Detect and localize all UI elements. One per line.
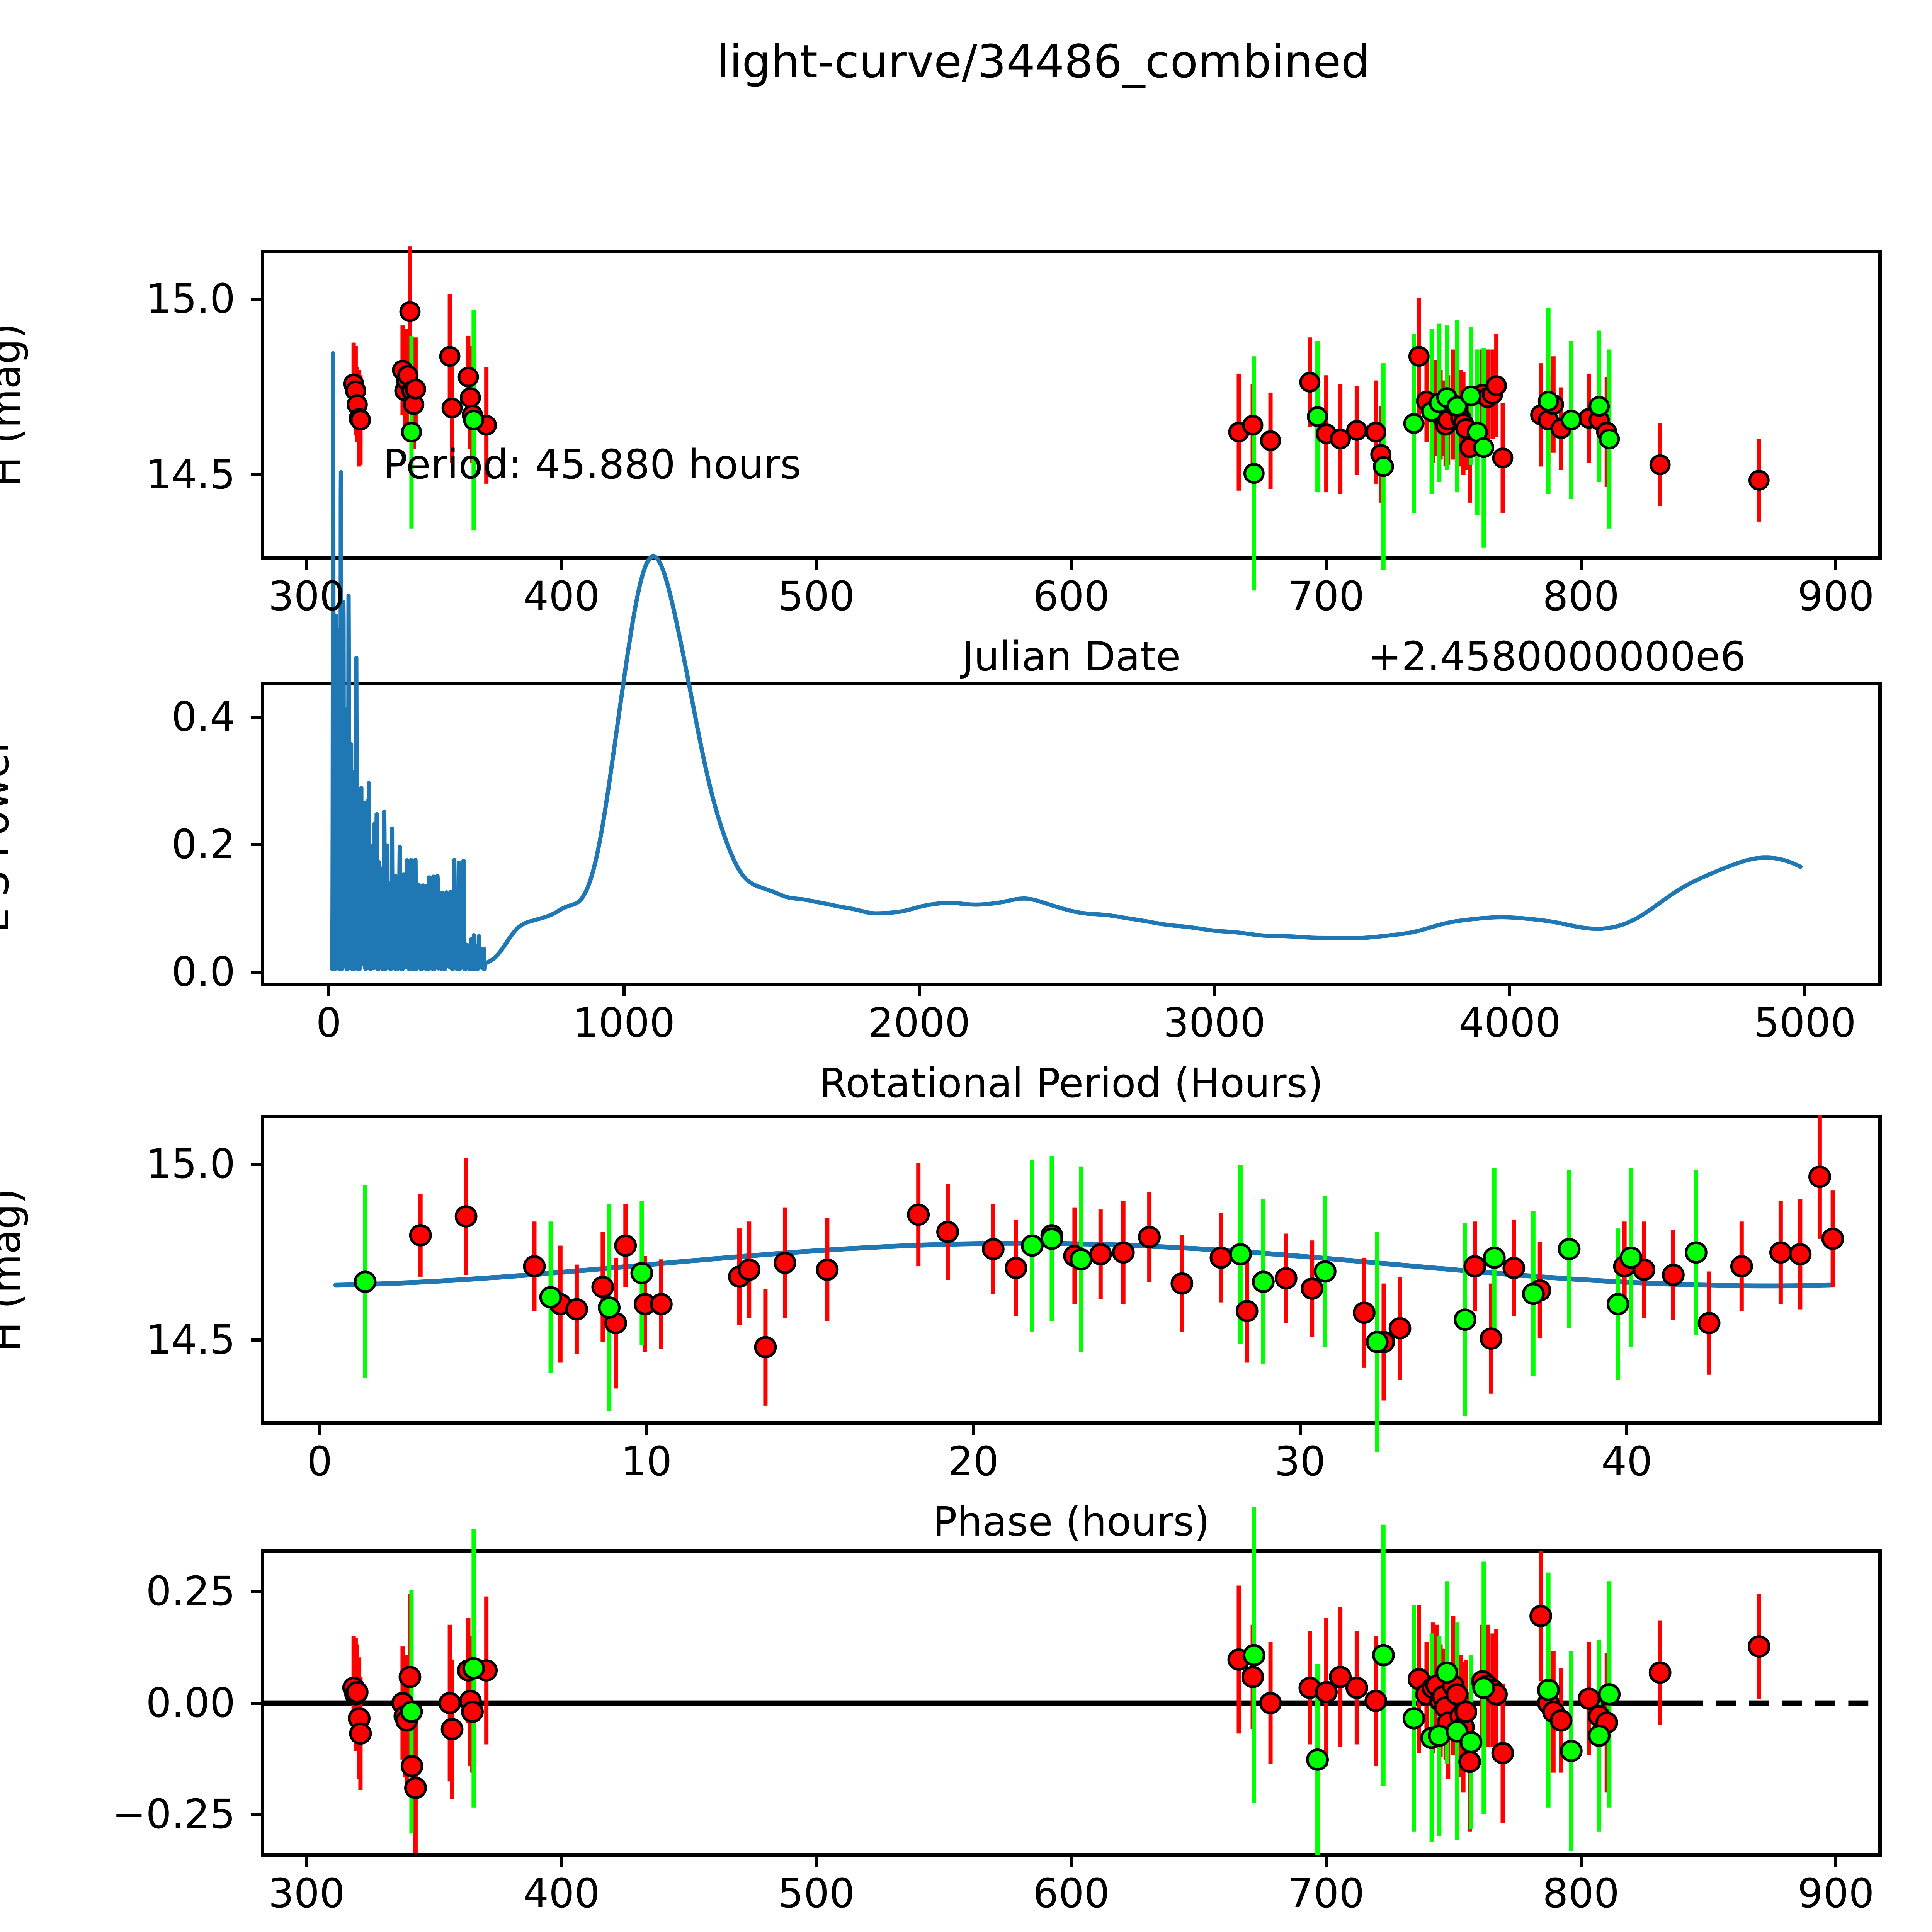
panel-residuals: [261, 1549, 1882, 1857]
figure-title: light-curve/34486_combined: [0, 35, 1932, 88]
y-tick-mark: [251, 716, 261, 719]
residuals-plot-area: [264, 1553, 1878, 1853]
x-tick-mark: [972, 1425, 975, 1435]
x-tick-label-300: 300: [237, 1870, 376, 1917]
x-tick-mark: [815, 560, 818, 570]
y-tick-mark: [251, 298, 261, 301]
x-tick-mark: [1325, 1857, 1328, 1867]
y-tick-label-14.5: 14.5: [3, 1316, 235, 1363]
panel-phase-folded: [261, 1115, 1882, 1425]
y-tick-label-15.0: 15.0: [3, 275, 235, 322]
x-tick-mark: [560, 1857, 563, 1867]
panel1-x-offset-label: +2.4580000000e6: [1368, 633, 1746, 680]
x-tick-mark: [1580, 1857, 1583, 1867]
x-tick-label-400: 400: [492, 1870, 631, 1917]
x-tick-label-600: 600: [1002, 1870, 1141, 1917]
y-tick-mark: [251, 1590, 261, 1593]
figure-canvas: light-curve/34486_combined Period: 45.88…: [0, 0, 1932, 1932]
panel-periodogram: [261, 682, 1882, 986]
x-tick-label-0: 0: [250, 1438, 389, 1485]
panel-lightcurve-time: [261, 250, 1882, 560]
panel4-x-offset-label: +2.4580000000e6: [1368, 1930, 1746, 1932]
x-tick-label-10: 10: [577, 1438, 716, 1485]
x-tick-label-0: 0: [259, 999, 398, 1046]
x-tick-mark: [1625, 1425, 1628, 1435]
x-tick-mark: [1834, 1857, 1837, 1867]
x-tick-label-1000: 1000: [554, 999, 694, 1046]
panel3-x-axis-label: Phase (hours): [685, 1498, 1458, 1545]
x-tick-label-40: 40: [1557, 1438, 1696, 1485]
x-tick-mark: [622, 986, 626, 996]
panel2-x-axis-label: Rotational Period (Hours): [608, 1060, 1535, 1107]
y-tick-mark: [251, 1813, 261, 1816]
x-tick-mark: [1213, 986, 1216, 996]
panel1-x-axis-label: Julian Date: [762, 633, 1381, 680]
x-tick-mark: [1299, 1425, 1302, 1435]
x-tick-label-3000: 3000: [1145, 999, 1284, 1046]
lightcurve-time-plot-area: [264, 253, 1878, 556]
x-tick-label-5000: 5000: [1735, 999, 1874, 1046]
x-tick-mark: [815, 1857, 818, 1867]
x-tick-label-500: 500: [747, 1870, 886, 1917]
x-tick-mark: [318, 1425, 321, 1435]
phase-folded-plot-area: [264, 1118, 1878, 1421]
x-tick-label-300: 300: [237, 573, 376, 620]
x-tick-mark: [645, 1425, 648, 1435]
y-tick-label-0.4: 0.4: [3, 693, 235, 740]
y-tick-label-14.5: 14.5: [3, 451, 235, 498]
x-tick-mark: [1325, 560, 1328, 570]
x-tick-label-2000: 2000: [850, 999, 989, 1046]
x-tick-label-20: 20: [904, 1438, 1043, 1485]
y-tick-mark: [251, 1338, 261, 1342]
y-tick-mark: [251, 1163, 261, 1166]
x-tick-label-700: 700: [1257, 1870, 1396, 1917]
x-tick-mark: [1580, 560, 1583, 570]
x-tick-mark: [560, 560, 563, 570]
x-tick-label-800: 800: [1512, 1870, 1651, 1917]
x-tick-mark: [305, 560, 308, 570]
x-tick-mark: [1508, 986, 1511, 996]
y-tick-label-15.0: 15.0: [3, 1140, 235, 1187]
x-tick-label-400: 400: [492, 573, 631, 620]
y-tick-mark: [251, 1702, 261, 1705]
period-annotation: Period: 45.880 hours: [383, 441, 801, 488]
y-tick-mark: [251, 473, 261, 476]
x-tick-mark: [1803, 986, 1806, 996]
panel4-x-axis-label: Julian Date: [762, 1930, 1381, 1932]
y-tick-label-0.00: 0.00: [3, 1679, 235, 1726]
x-tick-label-900: 900: [1766, 1870, 1905, 1917]
y-tick-label-0.2: 0.2: [3, 821, 235, 868]
x-tick-label-700: 700: [1257, 573, 1396, 620]
x-tick-mark: [1070, 560, 1073, 570]
x-tick-mark: [327, 986, 330, 996]
periodogram-plot-area: [264, 685, 1878, 983]
y-tick-label-−0.25: −0.25: [3, 1791, 235, 1838]
y-tick-label-0.25: 0.25: [3, 1568, 235, 1615]
x-tick-mark: [1834, 560, 1837, 570]
x-tick-label-600: 600: [1002, 573, 1141, 620]
x-tick-label-900: 900: [1766, 573, 1905, 620]
x-tick-label-800: 800: [1512, 573, 1651, 620]
x-tick-label-4000: 4000: [1440, 999, 1579, 1046]
x-tick-label-30: 30: [1231, 1438, 1370, 1485]
y-tick-mark: [251, 971, 261, 974]
y-tick-mark: [251, 843, 261, 846]
x-tick-mark: [305, 1857, 308, 1867]
x-tick-mark: [918, 986, 921, 996]
x-tick-label-500: 500: [747, 573, 886, 620]
y-tick-label-0.0: 0.0: [3, 948, 235, 995]
x-tick-mark: [1070, 1857, 1073, 1867]
